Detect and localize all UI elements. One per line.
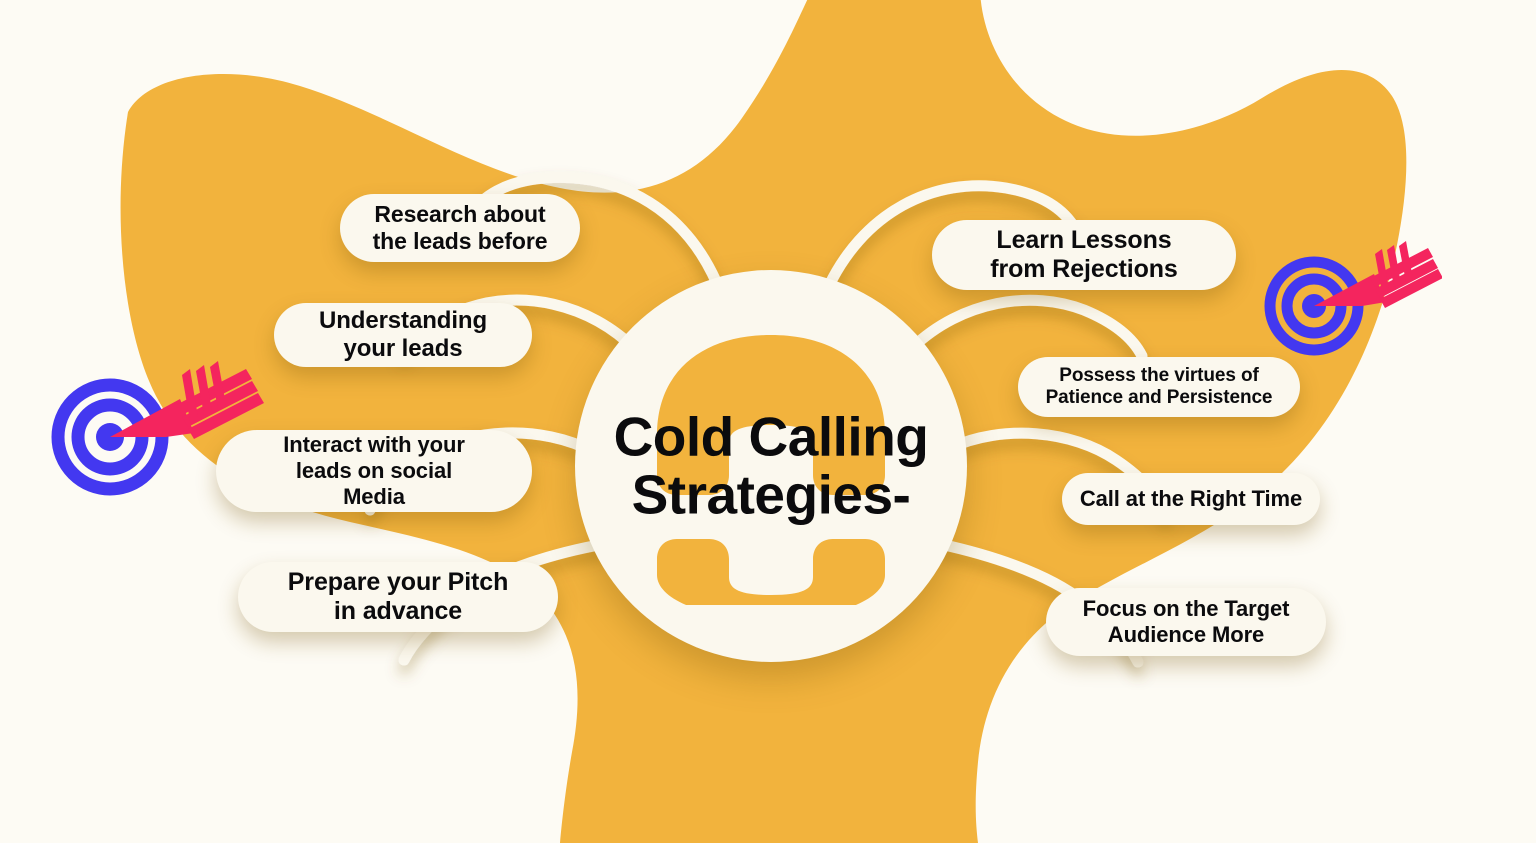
strategy-label: Research about the leads before <box>373 201 548 255</box>
center-title-line-2: Strategies- <box>632 464 911 526</box>
strategy-pill-learn-lessons-from-rejections[interactable]: Learn Lessons from Rejections <box>932 220 1236 290</box>
strategy-label: Understanding your leads <box>319 307 487 364</box>
center-title-line-1: Cold Calling <box>614 406 929 468</box>
strategy-label: Possess the virtues of Patience and Pers… <box>1046 365 1273 410</box>
strategy-label: Focus on the Target Audience More <box>1083 596 1290 648</box>
strategy-pill-understanding-your-leads[interactable]: Understanding your leads <box>274 303 532 367</box>
target-bullseye-with-arrow-icon-left <box>48 355 268 520</box>
center-hub: Cold Calling Strategies- <box>575 270 967 662</box>
target-bullseye-with-arrow-icon-right <box>1262 238 1442 368</box>
strategy-pill-call-at-the-right-time[interactable]: Call at the Right Time <box>1062 473 1320 525</box>
strategy-pill-patience-and-persistence[interactable]: Possess the virtues of Patience and Pers… <box>1018 357 1300 417</box>
strategy-label: Call at the Right Time <box>1080 486 1302 512</box>
infographic-canvas: Cold Calling Strategies- Research about … <box>0 0 1536 843</box>
strategy-label: Prepare your Pitch in advance <box>288 568 509 627</box>
strategy-label: Interact with your leads on social Media <box>283 432 465 510</box>
strategy-pill-prepare-your-pitch[interactable]: Prepare your Pitch in advance <box>238 562 558 632</box>
strategy-pill-research-about-leads[interactable]: Research about the leads before <box>340 194 580 262</box>
center-title: Cold Calling Strategies- <box>582 408 960 525</box>
strategy-label: Learn Lessons from Rejections <box>990 226 1177 285</box>
strategy-pill-focus-on-target-audience[interactable]: Focus on the Target Audience More <box>1046 588 1326 656</box>
